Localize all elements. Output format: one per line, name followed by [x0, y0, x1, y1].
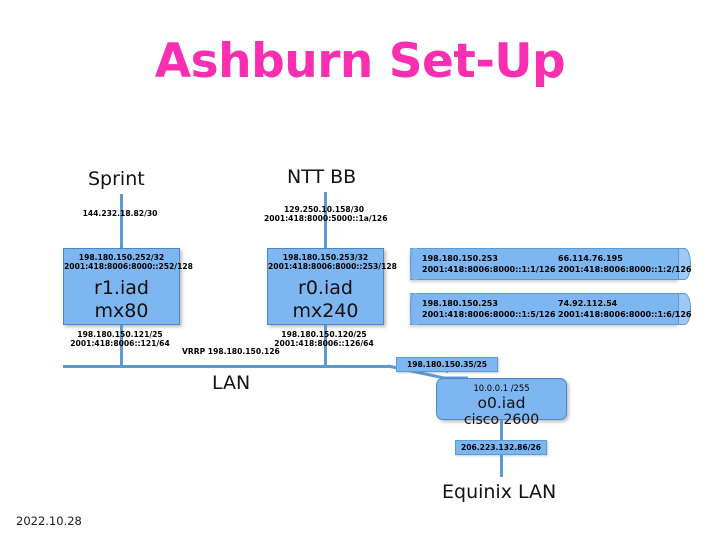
lan-backbone-line [63, 365, 391, 368]
tunnel-2-local-v4: 198.180.150.253 [422, 299, 555, 310]
tunnel-2-remote-endpoint: 74.92.112.54 2001:418:8006:8000::1:6/126 [558, 299, 691, 320]
tunnel-1-remote-endpoint: 66.114.76.195 2001:418:8006:8000::1:2/12… [558, 254, 691, 275]
switch-node-o0-iad[interactable]: 10.0.0.1 /255 o0.iad cisco 2600 [436, 378, 567, 420]
link-line-sprint-r1 [120, 194, 123, 249]
page-title: Ashburn Set-Up [0, 34, 720, 89]
tunnel-2-local-endpoint: 198.180.150.253 2001:418:8006:8000::1:5/… [422, 299, 555, 320]
router-hostname-r0: r0.iad [268, 277, 383, 300]
link-label-r0-lan-v4: 198.180.150.120/25 [264, 330, 384, 339]
switch-mgmt-address: 10.0.0.1 /255 [437, 384, 566, 393]
equinix-lan-label: Equinix LAN [442, 481, 556, 503]
tunnel-cylinder-2[interactable]: 198.180.150.253 2001:418:8006:8000::1:5/… [410, 293, 691, 325]
badge-equinix-link: 206.223.132.86/26 [455, 440, 547, 455]
vrrp-label: VRRP 198.180.150.126 [182, 347, 312, 356]
tunnel-2-remote-v6: 2001:418:8006:8000::1:6/126 [558, 310, 691, 321]
tunnel-1-local-endpoint: 198.180.150.253 2001:418:8006:8000::1:1/… [422, 254, 555, 275]
tunnel-1-local-v4: 198.180.150.253 [422, 254, 555, 265]
tunnel-1-left-cap [410, 248, 417, 280]
switch-hostname: o0.iad [437, 394, 566, 412]
link-label-ntt-v6: 2001:418:8000:5000::1a/126 [264, 214, 384, 223]
router-loopback-v6-r0: 2001:418:8006:8000::253/128 [268, 262, 383, 271]
link-line-o0-equinix-lower [500, 455, 503, 477]
tunnel-2-local-v6: 2001:418:8006:8000::1:5/126 [422, 310, 555, 321]
tunnel-1-remote-v6: 2001:418:8006:8000::1:2/126 [558, 265, 691, 276]
router-node-r1-iad[interactable]: 198.180.150.252/32 2001:418:8006:8000::2… [63, 248, 180, 325]
router-loopback-v4-r1: 198.180.150.252/32 [64, 253, 179, 262]
router-hostname-r1: r1.iad [64, 277, 179, 300]
router-loopback-v4-r0: 198.180.150.253/32 [268, 253, 383, 262]
link-label-sprint-v4: 144.232.18.82/30 [60, 209, 180, 218]
lan-label: LAN [212, 372, 250, 394]
link-label-r1-lan-v4: 198.180.150.121/25 [60, 330, 180, 339]
provider-label-sprint: Sprint [88, 168, 145, 190]
tunnel-1-remote-v4: 66.114.76.195 [558, 254, 691, 265]
provider-label-ntt-bb: NTT BB [287, 166, 356, 188]
router-loopback-v6-r1: 2001:418:8006:8000::252/128 [64, 262, 179, 271]
tunnel-2-left-cap [410, 293, 417, 325]
tunnel-2-remote-v4: 74.92.112.54 [558, 299, 691, 310]
tunnel-1-local-v6: 2001:418:8006:8000::1:1/126 [422, 265, 555, 276]
footer-date: 2022.10.28 [16, 514, 82, 528]
tunnel-cylinder-1[interactable]: 198.180.150.253 2001:418:8006:8000::1:1/… [410, 248, 691, 280]
badge-lan-downlink: 198.180.150.35/25 [396, 357, 498, 372]
router-node-r0-iad[interactable]: 198.180.150.253/32 2001:418:8006:8000::2… [267, 248, 384, 325]
slide-canvas: Ashburn Set-Up Sprint NTT BB 144.232.18.… [0, 0, 720, 540]
link-label-r1-lan-v6: 2001:418:8006::121/64 [60, 339, 180, 348]
router-model-r0: mx240 [268, 300, 383, 322]
router-model-r1: mx80 [64, 300, 179, 322]
link-label-ntt-v4: 129.250.10.158/30 [264, 205, 384, 214]
link-line-o0-equinix [500, 420, 503, 440]
